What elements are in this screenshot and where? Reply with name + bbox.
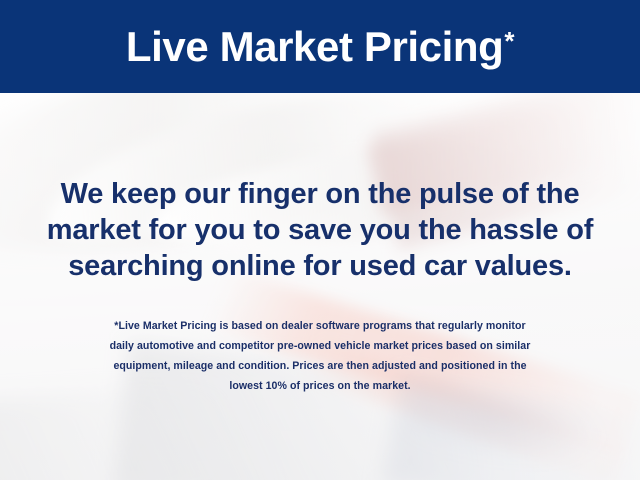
- page-title: Live Market Pricing*: [126, 26, 514, 68]
- footnote-asterisk: *: [504, 28, 514, 54]
- disclaimer-line: equipment, mileage and condition. Prices…: [20, 356, 620, 376]
- disclaimer-line: *Live Market Pricing is based on dealer …: [20, 316, 620, 336]
- disclaimer-text: *Live Market Pricing is based on dealer …: [20, 316, 620, 396]
- disclaimer-line: lowest 10% of prices on the market.: [20, 376, 620, 396]
- headline-line: We keep our finger on the pulse of the: [20, 176, 620, 212]
- header-banner: Live Market Pricing*: [0, 0, 640, 93]
- live-market-pricing-banner: Live Market Pricing* We keep our finger …: [0, 0, 640, 480]
- headline-line: market for you to save you the hassle of: [20, 212, 620, 248]
- headline-copy: We keep our finger on the pulse of the m…: [20, 176, 620, 284]
- page-title-text: Live Market Pricing: [126, 26, 504, 68]
- disclaimer-line: daily automotive and competitor pre-owne…: [20, 336, 620, 356]
- headline-line: searching online for used car values.: [20, 248, 620, 284]
